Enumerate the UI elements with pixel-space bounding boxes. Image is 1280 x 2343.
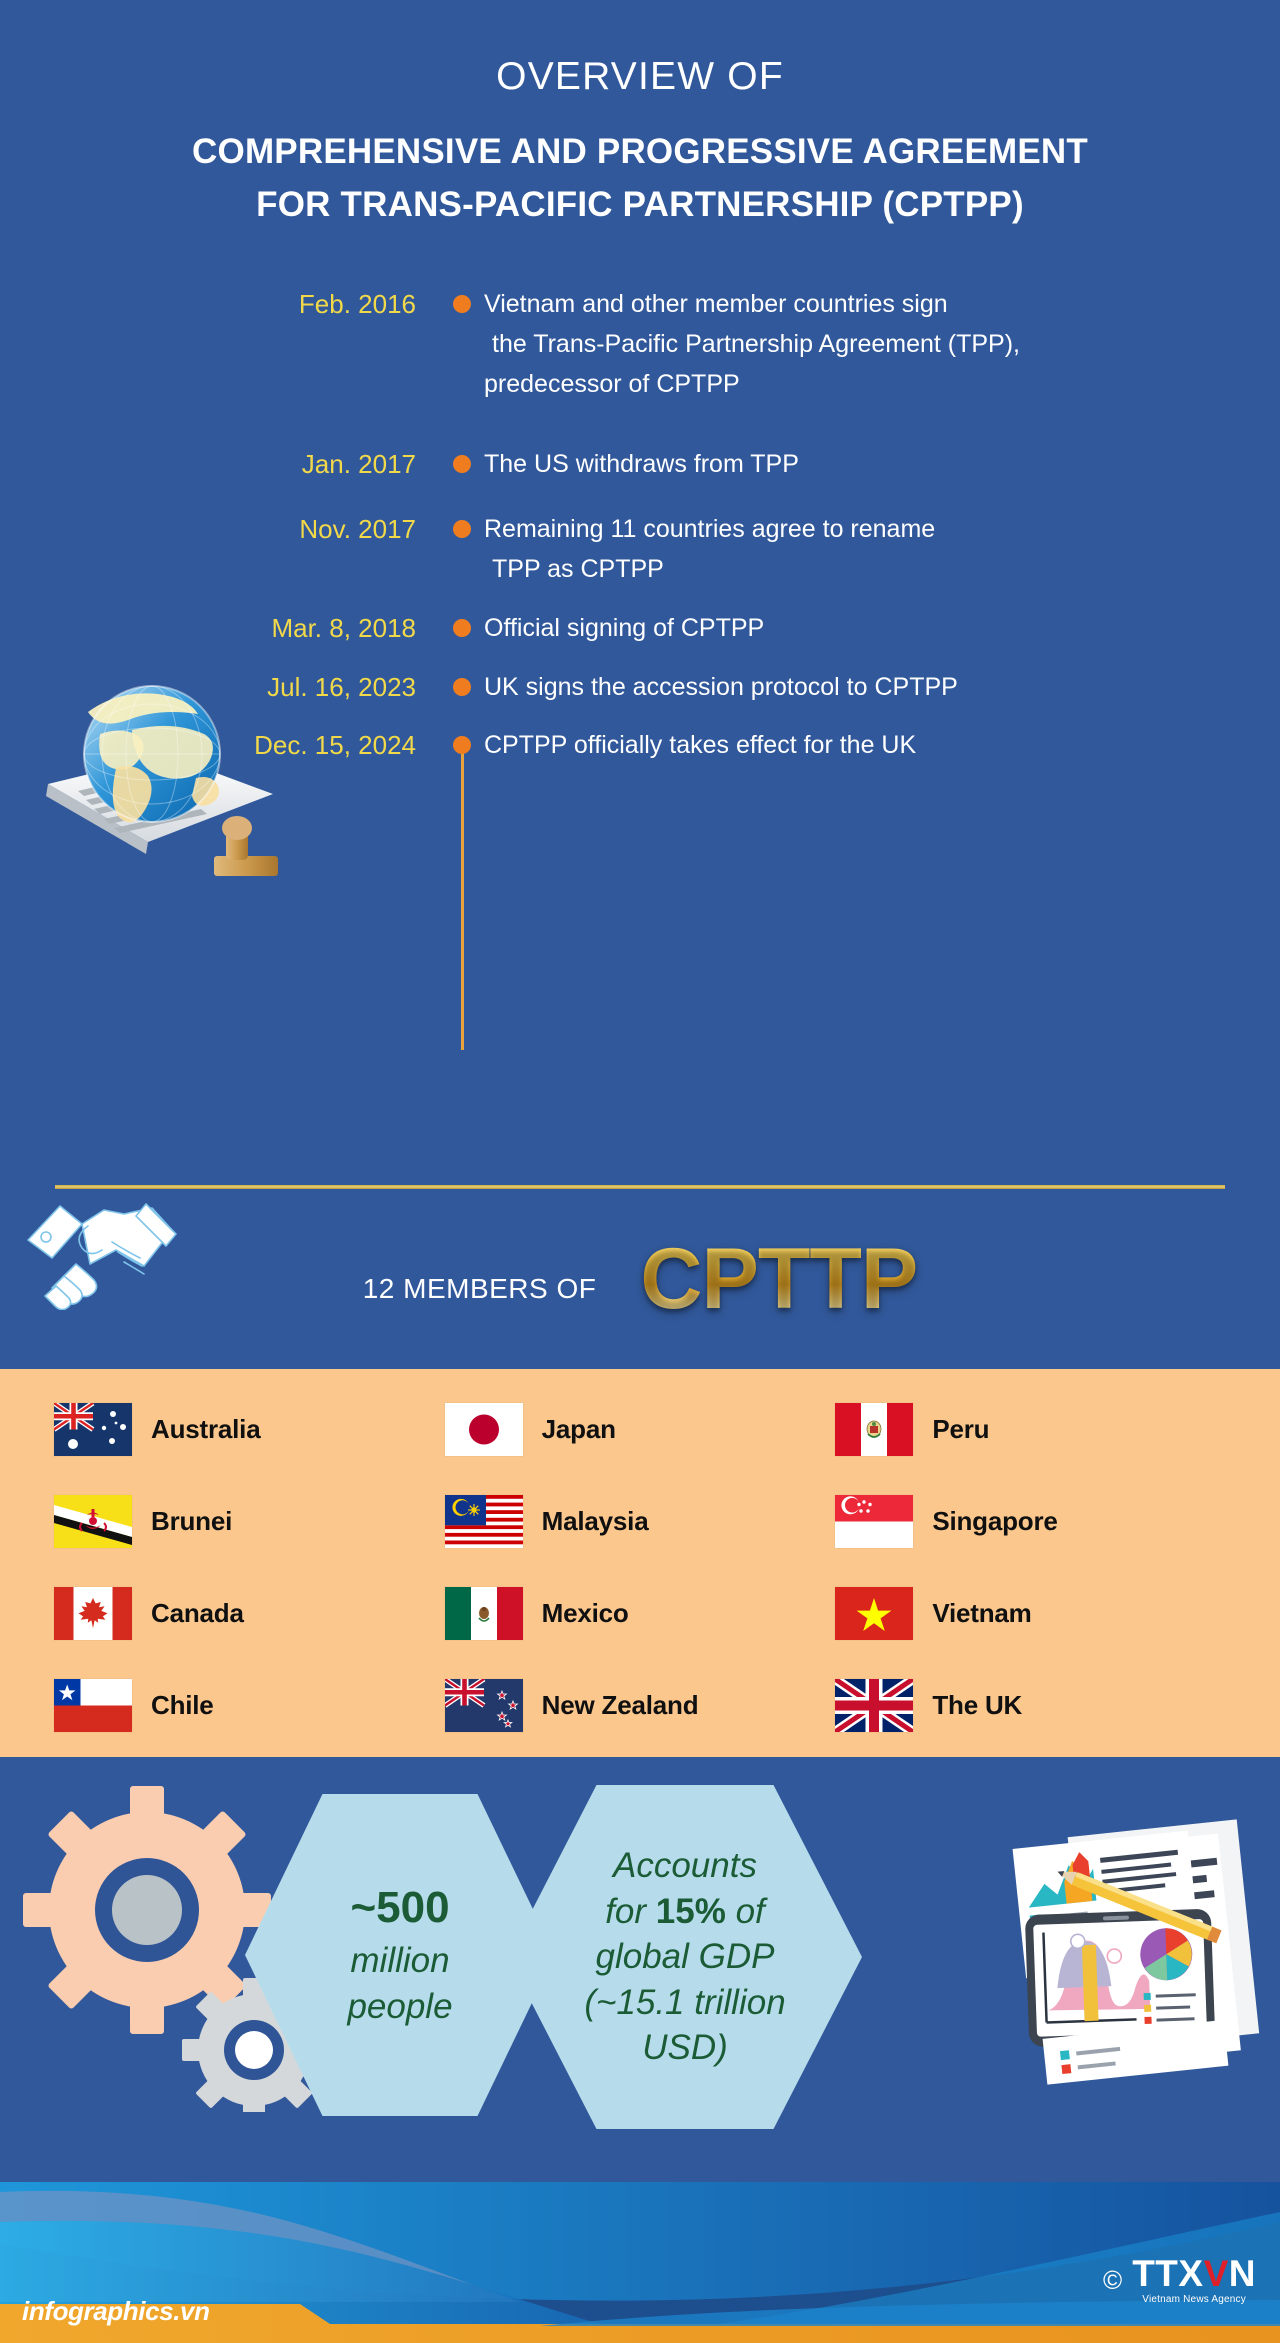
timeline-date-3: Nov. 2017 <box>0 509 440 549</box>
member-item-australia[interactable]: Australia <box>54 1383 445 1475</box>
member-name-chile: Chile <box>151 1690 214 1721</box>
footer-site-label: infographics.vn <box>22 2296 210 2327</box>
population-unit-line2: people <box>347 1987 452 2026</box>
gdp-line1: Accounts <box>613 1846 757 1885</box>
member-item-mexico[interactable]: Mexico <box>445 1567 836 1659</box>
population-text: ~500 million people <box>347 1879 452 2031</box>
members-count-label: 12 MEMBERS OF <box>363 1273 597 1305</box>
australia-flag <box>54 1403 132 1456</box>
member-name-australia: Australia <box>151 1414 260 1445</box>
member-name-mexico: Mexico <box>542 1598 629 1629</box>
timeline-event-5: Jul. 16, 2023 UK signs the accession pro… <box>0 667 1280 707</box>
timeline-text-1-line2: the Trans-Pacific Partnership Agreement … <box>484 324 1240 364</box>
chile-flag <box>54 1679 132 1732</box>
cpttp-wordmark: CPTTP <box>640 1230 917 1329</box>
page-title-line1: COMPREHENSIVE AND PROGRESSIVE AGREEMENT <box>0 125 1280 178</box>
timeline-dot-icon <box>453 295 471 313</box>
timeline-axis <box>461 740 464 1050</box>
gdp-percent: 15% <box>656 1892 726 1931</box>
member-countries-panel: Australia Japan <box>0 1369 1280 1757</box>
header-banner: OVERVIEW OF COMPREHENSIVE AND PROGRESSIV… <box>0 0 1280 300</box>
timeline-event-4: Mar. 8, 2018 Official signing of CPTPP <box>0 608 1280 648</box>
ttxvn-logo: TTXVN Vietnam News Agency <box>1132 2255 1256 2305</box>
gdp-for-word: for <box>605 1892 646 1931</box>
member-name-new-zealand: New Zealand <box>542 1690 699 1721</box>
member-name-malaysia: Malaysia <box>542 1506 649 1537</box>
timeline-date-2: Jan. 2017 <box>0 444 440 484</box>
copyright-icon: © <box>1103 2265 1122 2296</box>
timeline-dot-icon <box>453 455 471 473</box>
timeline-text-2: The US withdraws from TPP <box>484 444 1280 484</box>
ttxvn-n: N <box>1229 2253 1256 2294</box>
peru-flag <box>835 1403 913 1456</box>
gdp-line4: (~15.1 trillion <box>584 1983 785 2022</box>
member-item-canada[interactable]: Canada <box>54 1567 445 1659</box>
timeline-text-6: CPTPP officially takes effect for the UK <box>484 725 1280 765</box>
gdp-text: Accounts for 15% of global GDP (~15.1 tr… <box>584 1843 785 2071</box>
members-heading: 12 MEMBERS OF CPTTP <box>0 1230 1280 1329</box>
header-overline: OVERVIEW OF <box>0 55 1280 99</box>
gdp-line3: global GDP <box>596 1937 775 1976</box>
timeline-date-5: Jul. 16, 2023 <box>0 667 440 707</box>
timeline-event-2: Jan. 2017 The US withdraws from TPP <box>0 444 1280 484</box>
member-item-new-zealand[interactable]: New Zealand <box>445 1659 836 1751</box>
timeline-marker-5 <box>440 667 484 696</box>
timeline-marker-4 <box>440 608 484 637</box>
gdp-of-word: of <box>736 1892 765 1931</box>
timeline-dot-icon <box>453 736 471 754</box>
new-zealand-flag <box>445 1679 523 1732</box>
singapore-flag <box>835 1495 913 1548</box>
timeline-text-5: UK signs the accession protocol to CPTPP <box>484 667 1280 707</box>
canada-flag <box>54 1587 132 1640</box>
timeline-event-3: Nov. 2017 Remaining 11 countries agree t… <box>0 509 1280 589</box>
timeline-text-1: Vietnam and other member countries sign … <box>484 284 1280 404</box>
timeline-dot-icon <box>453 520 471 538</box>
ttxvn-wordmark: TTXVN <box>1132 2255 1256 2292</box>
report-tablet-chart-icon <box>1005 1792 1280 2087</box>
member-item-japan[interactable]: Japan <box>445 1383 836 1475</box>
page-title: COMPREHENSIVE AND PROGRESSIVE AGREEMENT … <box>0 125 1280 231</box>
timeline-event-1: Feb. 2016 Vietnam and other member count… <box>0 284 1280 404</box>
timeline-text-1-line3: predecessor of CPTPP <box>484 364 1240 404</box>
member-item-brunei[interactable]: Brunei <box>54 1475 445 1567</box>
japan-flag <box>445 1403 523 1456</box>
ttxvn-ttx: TTX <box>1132 2253 1203 2294</box>
member-item-singapore[interactable]: Singapore <box>835 1475 1226 1567</box>
member-name-singapore: Singapore <box>932 1506 1057 1537</box>
member-name-vietnam: Vietnam <box>932 1598 1031 1629</box>
malaysia-flag <box>445 1495 523 1548</box>
timeline-event-6: Dec. 15, 2024 CPTPP officially takes eff… <box>0 725 1280 765</box>
brunei-flag <box>54 1495 132 1548</box>
member-item-vietnam[interactable]: Vietnam <box>835 1567 1226 1659</box>
member-name-the-uk: The UK <box>932 1690 1022 1721</box>
vietnam-flag <box>835 1587 913 1640</box>
uk-flag <box>835 1679 913 1732</box>
member-countries-grid: Australia Japan <box>0 1383 1280 1751</box>
timeline-dot-icon <box>453 678 471 696</box>
timeline-marker-6 <box>440 725 484 754</box>
page-title-line2: FOR TRANS-PACIFIC PARTNERSHIP (CPTPP) <box>0 178 1280 231</box>
population-unit-line1: million <box>350 1941 449 1980</box>
member-item-chile[interactable]: Chile <box>54 1659 445 1751</box>
timeline-marker-3 <box>440 509 484 538</box>
timeline-date-6: Dec. 15, 2024 <box>0 725 440 765</box>
member-item-the-uk[interactable]: The UK <box>835 1659 1226 1751</box>
timeline-text-4: Official signing of CPTPP <box>484 608 1280 648</box>
member-name-japan: Japan <box>542 1414 616 1445</box>
member-name-brunei: Brunei <box>151 1506 232 1537</box>
timeline-section: Feb. 2016 Vietnam and other member count… <box>0 300 1280 1369</box>
section-divider <box>55 1185 1225 1189</box>
mexico-flag <box>445 1587 523 1640</box>
timeline-dot-icon <box>453 619 471 637</box>
member-item-malaysia[interactable]: Malaysia <box>445 1475 836 1567</box>
timeline-text-1-line1: Vietnam and other member countries sign <box>484 290 948 318</box>
timeline-text-3-line2: TPP as CPTPP <box>484 549 1240 589</box>
timeline-text-3-line1: Remaining 11 countries agree to rename <box>484 515 935 543</box>
timeline-marker-2 <box>440 444 484 473</box>
timeline-date-4: Mar. 8, 2018 <box>0 608 440 648</box>
footer-agency-credit: © TTXVN Vietnam News Agency <box>1103 2255 1256 2305</box>
ttxvn-v: V <box>1204 2253 1229 2294</box>
timeline-marker-1 <box>440 284 484 313</box>
timeline-date-1: Feb. 2016 <box>0 284 440 324</box>
footer-banner: infographics.vn © TTXVN Vietnam News Age… <box>0 2182 1280 2343</box>
member-name-peru: Peru <box>932 1414 989 1445</box>
ttxvn-subtitle: Vietnam News Agency <box>1132 2294 1256 2305</box>
gdp-line5: USD) <box>642 2028 728 2067</box>
timeline-text-3: Remaining 11 countries agree to rename T… <box>484 509 1280 589</box>
population-value: ~500 <box>347 1879 452 1938</box>
member-item-peru[interactable]: Peru <box>835 1383 1226 1475</box>
member-name-canada: Canada <box>151 1598 244 1629</box>
